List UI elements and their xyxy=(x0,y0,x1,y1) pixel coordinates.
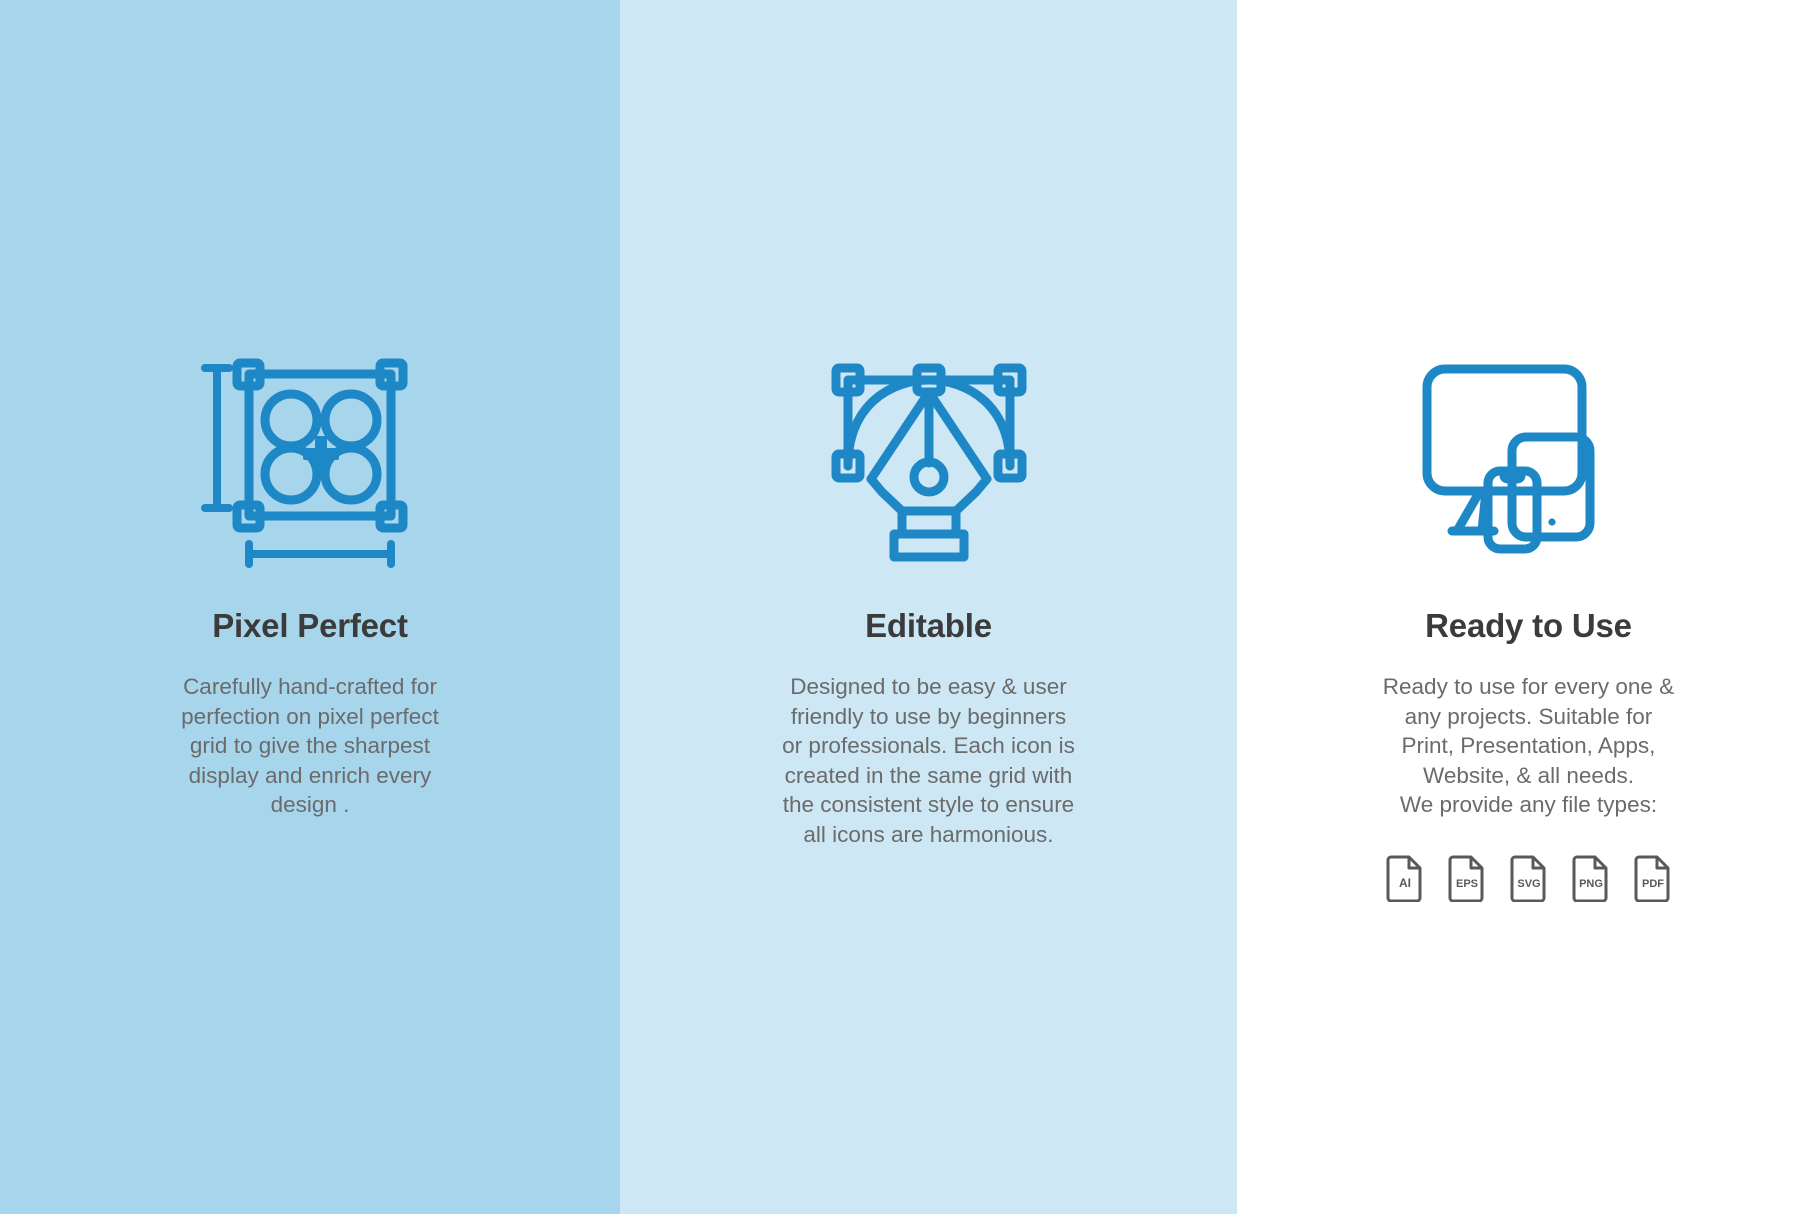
pen-nib-icon xyxy=(824,340,1034,590)
file-badge-label: PNG xyxy=(1579,878,1603,890)
page-title-pixel-perfect: Pixel Perfect xyxy=(212,608,408,644)
file-badge-eps: EPS xyxy=(1448,854,1486,902)
file-badge-label: SVG xyxy=(1517,878,1540,890)
features-board: Pixel Perfect Carefully hand-crafted for… xyxy=(0,0,1820,1214)
file-badge-label: AI xyxy=(1399,876,1411,890)
page-title-editable: Editable xyxy=(865,608,992,644)
file-badge-svg: SVG xyxy=(1510,854,1548,902)
file-badge-ai: AI xyxy=(1386,854,1424,902)
description-pixel-perfect: Carefully hand-crafted for perfection on… xyxy=(181,672,439,820)
column-editable: Editable Designed to be easy & user frie… xyxy=(620,0,1237,1214)
file-badge-label: EPS xyxy=(1455,878,1477,890)
file-badge-png: PNG xyxy=(1572,854,1610,902)
devices-icon xyxy=(1422,340,1636,590)
description-editable: Designed to be easy & user friendly to u… xyxy=(782,672,1075,849)
file-badge-label: PDF xyxy=(1642,878,1664,890)
file-badge-pdf: PDF xyxy=(1634,854,1672,902)
column-ready-to-use: Ready to Use Ready to use for every one … xyxy=(1237,0,1820,1214)
page-title-ready-to-use: Ready to Use xyxy=(1425,608,1632,644)
column-pixel-perfect: Pixel Perfect Carefully hand-crafted for… xyxy=(0,0,620,1214)
description-ready-to-use: Ready to use for every one & any project… xyxy=(1383,672,1674,820)
file-type-list: AI EPS SVG PNG xyxy=(1386,854,1672,902)
pixel-grid-icon xyxy=(201,340,419,590)
